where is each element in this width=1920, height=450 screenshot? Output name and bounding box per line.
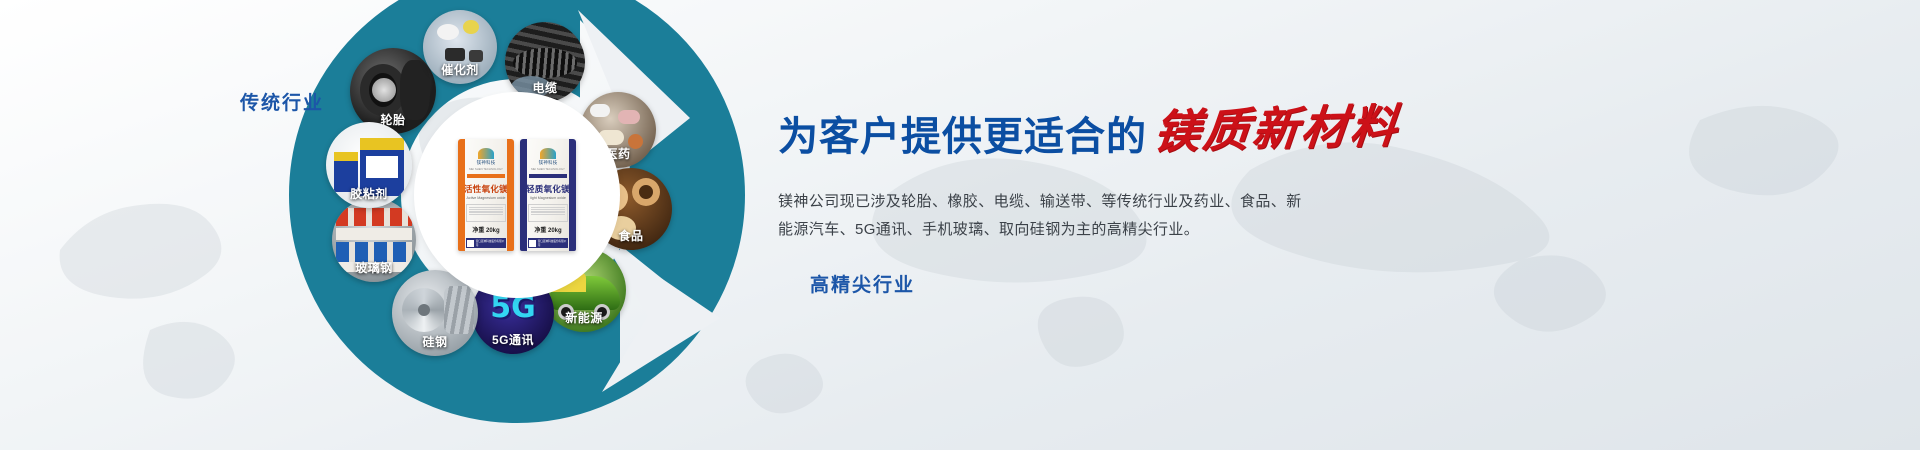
bag-product-name-en: light Magnesium oxide — [530, 196, 566, 200]
bag-brand: 镁神科技 — [477, 160, 496, 166]
bag-brand-en: MEI SHEN TECHNOLOGY — [531, 167, 565, 171]
bag-company: 营口镁神科技股份有限公司 — [538, 239, 568, 247]
bubble-label: 5G通讯 — [472, 331, 554, 348]
bag-stripe-right — [507, 139, 514, 251]
bubble-label: 催化剂 — [423, 61, 497, 78]
bag-product-name: 轻质氧化镁 — [526, 183, 570, 195]
bubble-adhesive[interactable]: 胶粘剂 — [326, 122, 412, 208]
bag-product-name: 活性氧化镁 — [464, 183, 508, 195]
bag-brand-en: MEI SHEN TECHNOLOGY — [469, 167, 503, 171]
bag-weight: 净重 20kg — [534, 225, 561, 234]
bubble-fiberglass[interactable]: 玻璃钢 — [332, 198, 416, 282]
bag-footer: 营口镁神科技股份有限公司 — [466, 238, 506, 248]
bag-footer: 营口镁神科技股份有限公司 — [528, 238, 568, 248]
section-label-traditional: 传统行业 — [240, 88, 324, 115]
bag-brand: 镁神科技 — [539, 160, 558, 166]
brand-logo-icon — [540, 148, 556, 159]
bubble-label: 硅钢 — [392, 333, 478, 350]
bag-weight: 净重 20kg — [472, 225, 499, 234]
headline: 为客户提供更适合的 镁质新材料 — [778, 96, 1558, 162]
product-bag-light-mgo: 镁神科技 MEI SHEN TECHNOLOGY 轻质氧化镁 light Mag… — [520, 139, 576, 251]
center-product-disc: 镁神科技 MEI SHEN TECHNOLOGY 活性氧化镁 Active Ma… — [418, 96, 616, 294]
bubble-label: 玻璃钢 — [332, 259, 416, 276]
bag-stripe-left — [458, 139, 465, 251]
qr-code-icon — [467, 240, 474, 247]
headline-red-text: 镁质新材料 — [1151, 90, 1403, 162]
brand-logo-icon — [478, 148, 494, 159]
bubble-silicon-steel[interactable]: 硅钢 — [392, 270, 478, 356]
bubble-label: 胶粘剂 — [326, 185, 412, 202]
bag-spec-box — [466, 204, 506, 222]
bag-accent-band — [467, 174, 505, 178]
description-line-2: 能源汽车、5G通讯、手机玻璃、取向硅钢为主的高精尖行业。 — [778, 216, 1558, 244]
bag-product-name-en: Active Magnesium oxide — [467, 196, 506, 200]
bag-stripe-left — [520, 139, 527, 251]
qr-code-icon — [529, 240, 536, 247]
industry-infographic: 轮胎 催化剂 电缆 医药 食品 新能源 5G 5G通讯 — [150, 0, 870, 450]
section-label-hightech: 高精尖行业 — [810, 270, 915, 297]
description-line-1: 镁神公司现已涉及轮胎、橡胶、电缆、输送带、等传统行业及药业、食品、新 — [778, 188, 1558, 216]
bag-spec-box — [528, 204, 568, 222]
bubble-label: 电缆 — [505, 79, 585, 96]
marketing-text-block: 为客户提供更适合的 镁质新材料 镁神公司现已涉及轮胎、橡胶、电缆、输送带、等传统… — [778, 96, 1558, 244]
headline-blue-text: 为客户提供更适合的 — [778, 104, 1147, 162]
bubble-catalyst[interactable]: 催化剂 — [423, 10, 497, 84]
bag-stripe-right — [569, 139, 576, 251]
bubble-cable[interactable]: 电缆 — [505, 22, 585, 102]
bubble-label: 新能源 — [542, 309, 626, 326]
bag-company: 营口镁神科技股份有限公司 — [476, 239, 506, 247]
description-paragraph: 镁神公司现已涉及轮胎、橡胶、电缆、输送带、等传统行业及药业、食品、新 能源汽车、… — [778, 188, 1558, 244]
bag-accent-band — [529, 174, 567, 178]
product-bag-active-mgo: 镁神科技 MEI SHEN TECHNOLOGY 活性氧化镁 Active Ma… — [458, 139, 514, 251]
